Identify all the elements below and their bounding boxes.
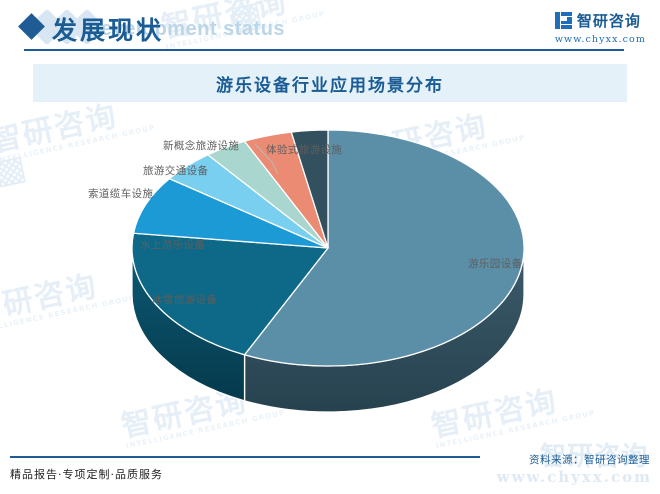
slice-label-suodao: 索道缆车设施 <box>88 186 153 201</box>
page-title: 发展现状 <box>52 11 164 47</box>
slide-header: Development status 发展现状 智研咨询 www.chyxx.c… <box>0 0 660 56</box>
footer-tagline: 精品报告·专项定制·品质服务 <box>10 466 163 482</box>
footer-source: 资料来源：智研咨询整理 <box>529 452 650 467</box>
slice-label-youleyuan: 游乐园设备 <box>468 256 523 271</box>
brand-url[interactable]: www.chyxx.com <box>555 34 646 45</box>
slice-label-shuishang: 水上游乐设备 <box>140 237 205 252</box>
slice-label-jiaotong: 旅游交通设备 <box>143 163 208 178</box>
slice-label-xingainian: 新概念旅游设施 <box>163 138 239 153</box>
pie-chart: 游乐园设备 冰雪旅游设备 水上游乐设备 索道缆车设施 旅游交通设备 新概念旅游设… <box>0 104 660 424</box>
brand-name: 智研咨询 <box>577 10 641 31</box>
footer-divider <box>10 456 480 458</box>
slide-footer: 智研咨询 精品报告·专项定制·品质服务 资料来源：智研咨询整理 www.chyx… <box>0 442 660 494</box>
slice-label-tiyanshi: 体验式旅游设施 <box>266 142 342 157</box>
header-divider <box>24 49 624 51</box>
footer-url[interactable]: www.chyxx.com <box>497 468 652 486</box>
slide-page: 智研咨询 INTELLIGENCE RESEARCH GROUP 智研咨询 IN… <box>0 0 660 494</box>
slice-label-bingxue: 冰雪旅游设备 <box>152 292 217 307</box>
brand-logo[interactable]: 智研咨询 www.chyxx.com <box>555 10 646 45</box>
chart-title-bar: 游乐设备行业应用场景分布 <box>33 64 627 102</box>
chyxx-logo-icon <box>555 12 572 29</box>
chart-title: 游乐设备行业应用场景分布 <box>216 71 444 96</box>
